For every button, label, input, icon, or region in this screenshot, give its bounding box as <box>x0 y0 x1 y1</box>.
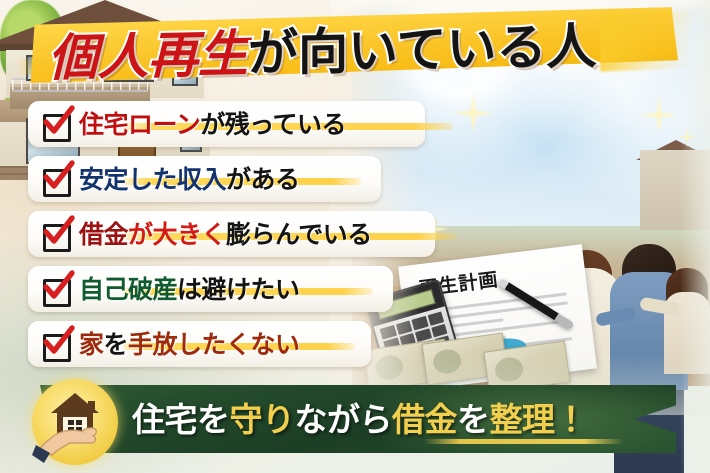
segment: は避けたい <box>177 275 300 304</box>
title-rest: が向いている人 <box>248 21 597 79</box>
list-item[interactable]: 家を手放したくない <box>28 321 371 367</box>
segment: 守り <box>230 403 295 436</box>
checklist: 住宅ローンが残っている 安定した収入がある 借金が大きく膨らんでいる <box>28 101 448 376</box>
segment: がある <box>226 165 300 194</box>
list-item[interactable]: 借金が大きく膨らんでいる <box>28 211 435 257</box>
segment: 住宅を <box>132 403 230 436</box>
segment: 整理！ <box>490 403 588 436</box>
segment: 手放したくない <box>128 330 300 359</box>
segment: 借金 <box>79 220 128 249</box>
checkbox-checked-icon[interactable] <box>41 219 71 249</box>
segment: 安定した収入 <box>79 165 226 194</box>
page-title: 個人再生が向いている人 <box>48 13 688 90</box>
segment: 自己破産 <box>79 275 177 304</box>
list-item[interactable]: 自己破産は避けたい <box>28 266 393 312</box>
poster-canvas: 再生計画 個人再生が向いている人 <box>0 0 710 473</box>
segment: ながら <box>295 403 393 436</box>
list-item[interactable]: 安定した収入がある <box>28 156 381 202</box>
hand-holding-house-icon <box>32 379 118 465</box>
list-item[interactable]: 住宅ローンが残っている <box>28 101 425 147</box>
list-item-label: 安定した収入がある <box>79 167 300 192</box>
segment: 家 <box>79 330 104 359</box>
title-highlight: 個人再生 <box>48 29 248 84</box>
list-item-label: 家を手放したくない <box>79 332 300 357</box>
segment: が残っている <box>200 110 346 139</box>
list-item-label: 自己破産は避けたい <box>79 277 300 302</box>
title-banner: 個人再生が向いている人 <box>0 4 710 92</box>
segment: 大きく <box>153 220 227 249</box>
checkbox-checked-icon[interactable] <box>41 109 71 139</box>
list-item-label: 借金が大きく膨らんでいる <box>79 222 372 247</box>
segment: が <box>128 220 153 249</box>
segment: 住宅ローン <box>79 110 200 139</box>
checkbox-checked-icon[interactable] <box>41 274 71 304</box>
checkbox-checked-icon[interactable] <box>41 164 71 194</box>
segment: 借金 <box>392 403 457 436</box>
checkbox-checked-icon[interactable] <box>41 329 71 359</box>
segment: を <box>457 403 490 436</box>
segment: を <box>104 330 129 359</box>
list-item-label: 住宅ローンが残っている <box>79 112 346 137</box>
segment: 膨らんでいる <box>226 220 372 249</box>
bottom-banner-text: 住宅を守りながら 借金を整理！ <box>132 398 587 440</box>
